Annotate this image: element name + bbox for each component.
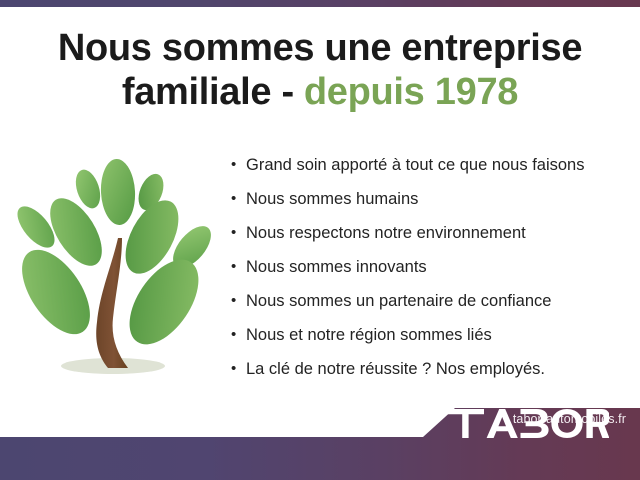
benefits-list: • Grand soin apporté à tout ce que nous …	[231, 148, 631, 386]
list-item-label: Grand soin apporté à tout ce que nous fa…	[246, 156, 584, 174]
title-line-2: familiale -depuis 1978	[0, 70, 640, 114]
list-item: • Nous sommes innovants	[231, 250, 631, 284]
bullet-icon: •	[231, 284, 236, 318]
bullet-icon: •	[231, 318, 236, 352]
tree-trunk	[96, 238, 128, 368]
list-item-label: Nous et notre région sommes liés	[246, 326, 492, 344]
list-item: • Nous sommes un partenaire de confiance	[231, 284, 631, 318]
top-accent-strip	[0, 0, 640, 7]
leaf-top-center	[99, 158, 136, 226]
list-item: • La clé de notre réussite ? Nos employé…	[231, 352, 631, 386]
tree-svg	[12, 152, 222, 382]
bullet-icon: •	[231, 182, 236, 216]
list-item-label: Nous sommes un partenaire de confiance	[246, 292, 551, 310]
brand-logo[interactable]: tabor-automobiles.fr	[446, 409, 626, 426]
bullet-icon: •	[231, 148, 236, 182]
title-line-2-plain: familiale -	[122, 71, 294, 113]
list-item: • Nous et notre région sommes liés	[231, 318, 631, 352]
tree-illustration	[12, 152, 222, 382]
list-item: • Nous respectons notre environnement	[231, 216, 631, 250]
bullet-icon: •	[231, 352, 236, 386]
bullet-icon: •	[231, 216, 236, 250]
list-item-label: Nous respectons notre environnement	[246, 224, 526, 242]
title-line-1: Nous sommes une entreprise	[0, 26, 640, 70]
list-item-label: Nous sommes humains	[246, 190, 418, 208]
list-item: • Nous sommes humains	[231, 182, 631, 216]
list-item: • Grand soin apporté à tout ce que nous …	[231, 148, 631, 182]
title-accent-text: depuis 1978	[304, 71, 518, 113]
tabor-wordmark-icon	[446, 409, 609, 438]
footer-bar: tabor-automobiles.fr	[0, 400, 640, 480]
slide-canvas: Nous sommes une entreprise familiale -de…	[0, 0, 640, 480]
list-item-label: Nous sommes innovants	[246, 258, 427, 276]
bullet-icon: •	[231, 250, 236, 284]
page-title: Nous sommes une entreprise familiale -de…	[0, 26, 640, 114]
list-item-label: La clé de notre réussite ? Nos employés.	[246, 360, 545, 378]
